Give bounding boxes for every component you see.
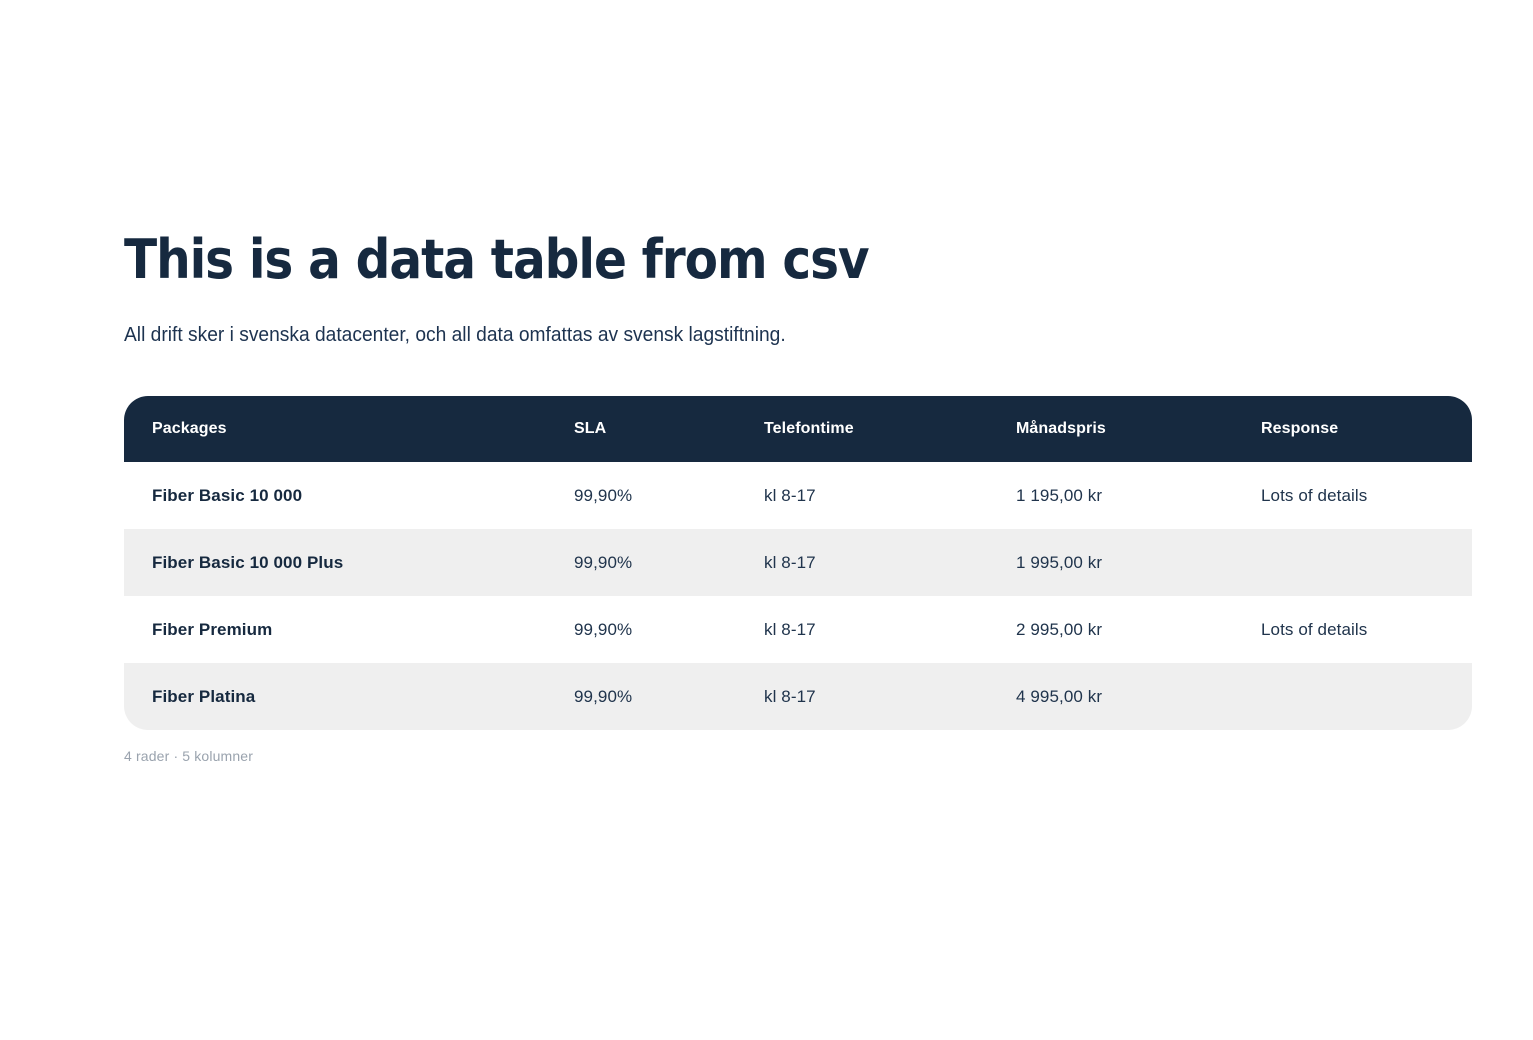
cell-response (1233, 663, 1472, 730)
table-row[interactable]: Fiber Platina 99,90% kl 8-17 4 995,00 kr (124, 663, 1472, 730)
page-subtitle: All drift sker i svenska datacenter, och… (124, 290, 1418, 348)
column-header-packages[interactable]: Packages (124, 396, 546, 462)
data-table-container: Packages SLA Telefontime Månadspris Resp… (124, 396, 1472, 764)
cell-manadspris: 4 995,00 kr (988, 663, 1233, 730)
column-header-response[interactable]: Response (1233, 396, 1472, 462)
column-header-manadspris[interactable]: Månadspris (988, 396, 1233, 462)
page-root: This is a data table from csv All drift … (0, 0, 1533, 1040)
table-caption: 4 rader · 5 kolumner (124, 748, 1472, 764)
table-body: Fiber Basic 10 000 99,90% kl 8-17 1 195,… (124, 462, 1472, 730)
cell-telefontime: kl 8-17 (736, 462, 988, 529)
table-header: Packages SLA Telefontime Månadspris Resp… (124, 396, 1472, 462)
cell-sla: 99,90% (546, 663, 736, 730)
table-row[interactable]: Fiber Basic 10 000 Plus 99,90% kl 8-17 1… (124, 529, 1472, 596)
cell-manadspris: 1 995,00 kr (988, 529, 1233, 596)
page-title: This is a data table from csv (124, 230, 1337, 290)
column-header-sla[interactable]: SLA (546, 396, 736, 462)
cell-telefontime: kl 8-17 (736, 529, 988, 596)
cell-response: Lots of details (1233, 596, 1472, 663)
cell-packages: Fiber Basic 10 000 (124, 462, 546, 529)
cell-sla: 99,90% (546, 596, 736, 663)
table-row[interactable]: Fiber Premium 99,90% kl 8-17 2 995,00 kr… (124, 596, 1472, 663)
cell-response: Lots of details (1233, 462, 1472, 529)
cell-telefontime: kl 8-17 (736, 596, 988, 663)
table-header-row: Packages SLA Telefontime Månadspris Resp… (124, 396, 1472, 462)
cell-packages: Fiber Platina (124, 663, 546, 730)
cell-packages: Fiber Basic 10 000 Plus (124, 529, 546, 596)
cell-telefontime: kl 8-17 (736, 663, 988, 730)
cell-sla: 99,90% (546, 529, 736, 596)
column-header-telefontime[interactable]: Telefontime (736, 396, 988, 462)
table-row[interactable]: Fiber Basic 10 000 99,90% kl 8-17 1 195,… (124, 462, 1472, 529)
cell-manadspris: 1 195,00 kr (988, 462, 1233, 529)
cell-response (1233, 529, 1472, 596)
cell-packages: Fiber Premium (124, 596, 546, 663)
content-container: This is a data table from csv All drift … (124, 230, 1472, 764)
data-table: Packages SLA Telefontime Månadspris Resp… (124, 396, 1472, 730)
cell-sla: 99,90% (546, 462, 736, 529)
cell-manadspris: 2 995,00 kr (988, 596, 1233, 663)
